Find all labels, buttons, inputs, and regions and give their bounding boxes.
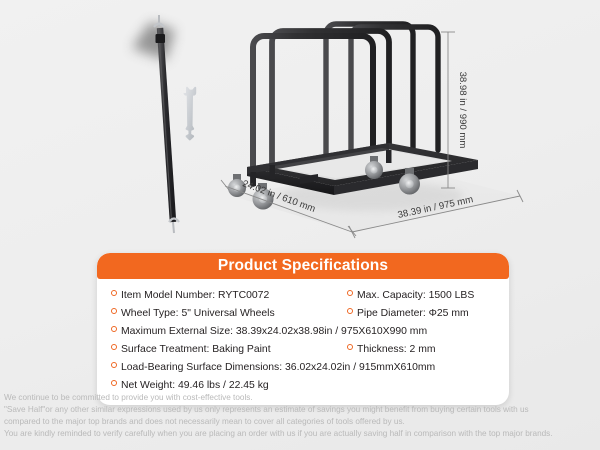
spec-text: Maximum External Size: 38.39x24.02x38.98… (121, 326, 427, 337)
spec-text: Item Model Number: RYTC0072 (121, 290, 269, 301)
spec-item: Max. Capacity: 1500 LBS (347, 290, 474, 301)
spec-text: Load-Bearing Surface Dimensions: 36.02x2… (121, 362, 435, 373)
wrench-icon (183, 87, 196, 141)
bullet-icon (111, 344, 117, 350)
bullet-icon (111, 326, 117, 332)
cart-hoop-rear (326, 24, 413, 160)
spec-item: Wheel Type: 5" Universal Wheels (111, 308, 275, 319)
spec-row: Wheel Type: 5" Universal Wheels Pipe Dia… (97, 304, 509, 322)
spec-text: Wheel Type: 5" Universal Wheels (121, 308, 275, 319)
spec-item: Thickness: 2 mm (347, 344, 436, 355)
spec-row: Maximum External Size: 38.39x24.02x38.98… (97, 322, 509, 340)
spec-row: Surface Treatment: Baking Paint Thicknes… (97, 340, 509, 358)
spec-item: Surface Treatment: Baking Paint (111, 344, 271, 355)
disclaimer-line-2: "Save Half"or any other similar expressi… (4, 404, 598, 416)
bullet-icon (347, 344, 353, 350)
spec-card-title: Product Specifications (218, 257, 388, 275)
bullet-icon (111, 362, 117, 368)
strap-with-hooks (132, 15, 179, 233)
disclaimer-line-4: You are kindly reminded to verify carefu… (4, 428, 598, 440)
disclaimer-line-1: We continue to be committed to provide y… (4, 392, 598, 404)
bullet-icon (111, 290, 117, 296)
dimension-height-label: 38.98 in / 990 mm (457, 72, 468, 149)
product-illustration: 38.98 in / 990 mm 38.39 in / 975 mm 24.0… (0, 0, 600, 250)
bullet-icon (111, 308, 117, 314)
cart-hoop-rear-2 (351, 27, 438, 163)
spec-item: Net Weight: 49.46 lbs / 22.45 kg (111, 380, 269, 391)
spec-card-header: Product Specifications (97, 253, 509, 279)
spec-item: Item Model Number: RYTC0072 (111, 290, 269, 301)
product-specifications-card: Product Specifications Item Model Number… (97, 253, 509, 405)
disclaimer-line-3: compared to the major top brands and doe… (4, 416, 598, 428)
spec-item: Pipe Diameter: Φ25 mm (347, 308, 469, 319)
spec-item: Load-Bearing Surface Dimensions: 36.02x2… (111, 362, 435, 373)
spec-row: Load-Bearing Surface Dimensions: 36.02x2… (97, 358, 509, 376)
spec-item: Maximum External Size: 38.39x24.02x38.98… (111, 326, 427, 337)
spec-text: Pipe Diameter: Φ25 mm (357, 308, 469, 319)
spec-text: Surface Treatment: Baking Paint (121, 344, 271, 355)
bullet-icon (347, 308, 353, 314)
spec-text: Thickness: 2 mm (357, 344, 436, 355)
spec-text: Net Weight: 49.46 lbs / 22.45 kg (121, 380, 269, 391)
bullet-icon (347, 290, 353, 296)
spec-text: Max. Capacity: 1500 LBS (357, 290, 474, 301)
bullet-icon (111, 380, 117, 386)
footer-disclaimer: We continue to be committed to provide y… (4, 392, 598, 440)
spec-card-body: Item Model Number: RYTC0072 Max. Capacit… (97, 279, 509, 405)
spec-row: Item Model Number: RYTC0072 Max. Capacit… (97, 286, 509, 304)
